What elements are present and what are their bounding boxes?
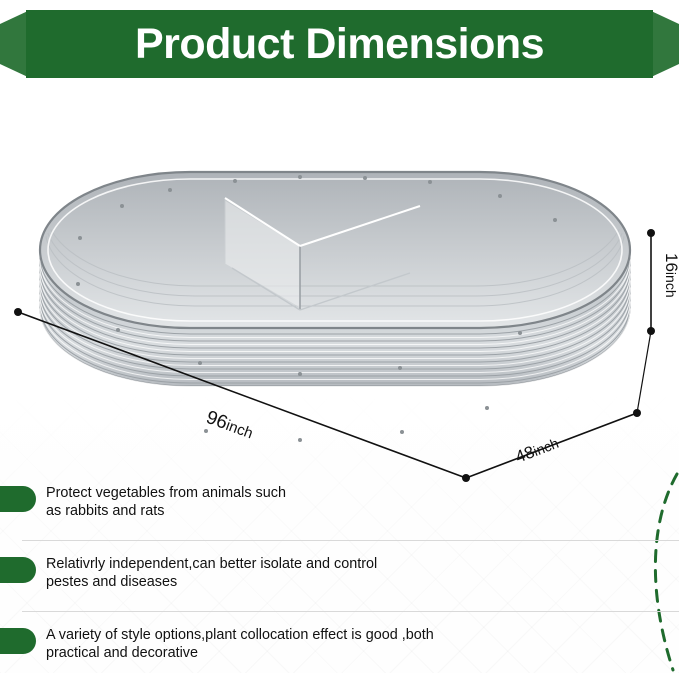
feature-text-line2: practical and decorative (46, 644, 434, 662)
feature-text: Relativrly independent,can better isolat… (46, 553, 377, 592)
feature-text-line1: Relativrly independent,can better isolat… (46, 555, 377, 573)
feature-text: A variety of style options,plant colloca… (46, 624, 434, 663)
list-item: A variety of style options,plant colloca… (0, 624, 679, 668)
feature-text-line1: A variety of style options,plant colloca… (46, 626, 434, 644)
dimension-length-label: 96inch (203, 407, 256, 443)
list-divider (22, 540, 679, 541)
feature-text-line1: Protect vegetables from animals such (46, 484, 286, 502)
product-infographic: Product Dimensions (0, 0, 679, 673)
feature-list: Protect vegetables from animals such as … (0, 482, 679, 673)
bullet-marker-icon (0, 628, 36, 654)
garden-bed-drawing (40, 172, 630, 442)
feature-text-line2: as rabbits and rats (46, 502, 286, 520)
bullet-marker-icon (0, 486, 36, 512)
list-divider (22, 611, 679, 612)
feature-text-line2: pestes and diseases (46, 573, 377, 591)
page-title: Product Dimensions (135, 23, 544, 66)
header-banner: Product Dimensions (26, 10, 653, 78)
list-item: Protect vegetables from animals such as … (0, 482, 679, 526)
list-item: Relativrly independent,can better isolat… (0, 553, 679, 597)
feature-text: Protect vegetables from animals such as … (46, 482, 286, 521)
product-image: 96inch 48inch 16inch (0, 78, 679, 498)
bullet-marker-icon (0, 557, 36, 583)
dimension-height-label: 16inch (662, 253, 679, 298)
dimension-width-label: 48inch (513, 433, 561, 467)
